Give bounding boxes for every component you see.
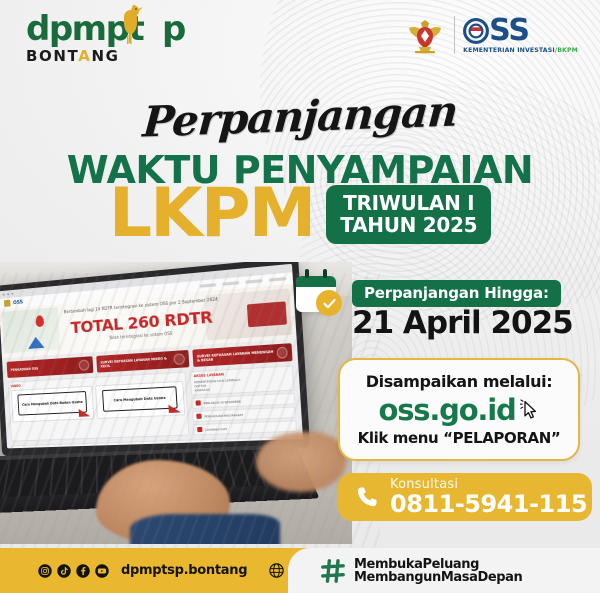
quick-card-label: SURVEI KEPUASAN LAYANAN MIKRO & KECIL [100, 355, 174, 368]
ministry-name: KEMENTERIAN INVESTASI [463, 47, 555, 54]
site-menu-item [245, 279, 262, 284]
quick-card-label: PENGADUAN OSS [10, 366, 38, 372]
site-brand: OSS [4, 299, 23, 307]
heron-icon [118, 3, 144, 47]
facebook-icon[interactable] [76, 564, 90, 578]
channel-hint: Klik menu “PELAPORAN” [358, 429, 561, 447]
second-hand [256, 432, 346, 492]
poster-canvas: dpmptsp BONTANG [0, 0, 600, 593]
oss-brand-ss: SS [489, 17, 529, 45]
video-card[interactable]: Cara Mengubah Data Usaha [95, 381, 184, 419]
submission-channel-box: Disampaikan melalui: oss.go.id Klik menu… [338, 358, 580, 461]
subtitle-gold-a: A [78, 47, 91, 65]
side-button-label: LAYANAN CHAT [205, 426, 227, 431]
ministry-bkpm: /BKPM [555, 47, 578, 54]
phone-icon [354, 484, 380, 510]
social-icon-row: dpmptsp.bontang [38, 563, 247, 578]
badge-line-1: TRIWULAN I [340, 192, 477, 214]
badge-line-2: TAHUN 2025 [340, 214, 477, 236]
quick-card-label: SURVEI KEPUASAN LAYANAN MENENGAH & BESAR [197, 349, 278, 362]
globe-icon [269, 563, 284, 578]
browser-dot [3, 294, 5, 296]
oss-logo-group: SS KEMENTERIAN INVESTASI/BKPM [404, 14, 578, 56]
channel-label: Disampaikan melalui: [366, 372, 552, 391]
video-thumbnail: Cara Mengubah Data Badan Usaha [17, 391, 87, 416]
video-card[interactable]: Cara Mengubah Data Badan Usaha [11, 386, 95, 423]
channel-url-row: oss.go.id [378, 393, 539, 427]
garuda-pancasila-emblem [404, 14, 446, 56]
mouse-cursor-icon [520, 399, 540, 421]
deadline-label: Perpanjangan Hingga: [352, 280, 561, 307]
oss-brand-block: SS KEMENTERIAN INVESTASI/BKPM [463, 17, 578, 54]
poster-footer: dpmptsp.bontang pd.bontangkota.go.id Mem… [0, 548, 600, 593]
video-title: Cara Mengubah Data Badan Usaha [22, 400, 83, 407]
hashtag-icon [320, 558, 346, 584]
side-button-label: PENGADUAN MASYARAKAT [204, 412, 243, 418]
oss-o-mark-icon [463, 18, 489, 44]
dpmptsp-logo: dpmptsp BONTANG [26, 12, 185, 65]
youtube-icon[interactable] [95, 564, 109, 578]
service-access-box: AKSES LAYANAN KEMENTERIAN DAN LEMBAGA DA… [189, 365, 294, 395]
site-menu-item [222, 281, 239, 286]
video-thumbnail: Cara Mengubah Data Usaha [102, 386, 177, 412]
play-icon [168, 404, 181, 413]
consultation-number: 0811-5941-115 [390, 492, 587, 516]
shirt-sleeve [130, 514, 280, 544]
cursor-arrow-icon [520, 399, 540, 421]
dpmptsp-word-suffix: p [162, 9, 185, 49]
calendar-ring [305, 269, 309, 278]
oss-brand-text: SS [463, 17, 529, 45]
site-brand-text: OSS [13, 299, 23, 306]
social-handle: dpmptsp.bontang [121, 563, 247, 578]
dpmptsp-subtitle: BONTANG [26, 47, 185, 65]
subtitle-before: BONT [26, 47, 78, 65]
quarter-year-badge: TRIWULAN I TAHUN 2025 [326, 185, 491, 244]
side-panel: AKSES LAYANAN KEMENTERIAN DAN LEMBAGA DA… [189, 365, 297, 435]
check-icon [322, 296, 337, 311]
calendar-top [296, 276, 336, 287]
consultation-box[interactable]: Konsultasi 0811-5941-115 [338, 473, 592, 521]
instagram-icon[interactable] [38, 564, 52, 578]
site-menu-item [269, 277, 287, 282]
video-panel: VIDEO Cara Mengubah Data Badan Usaha Car… [8, 372, 189, 442]
laptop-device: OSS Bertambah lagi 14 RDTR terin [0, 262, 310, 456]
hashtag-line-1: MembukaPeluang [354, 558, 522, 571]
side-button-label: BERLOKASI DI KEK/KPBPB [203, 399, 240, 405]
video-title: Cara Mengubah Data Usaha [114, 396, 166, 403]
browser-dot [7, 293, 9, 295]
chat-icon [197, 427, 202, 432]
check-badge [316, 290, 342, 316]
calendar-ring [323, 269, 327, 278]
site-garuda-icon [4, 300, 11, 307]
headline-lkpm: LKPM [109, 180, 315, 248]
consultation-text: Konsultasi 0811-5941-115 [390, 478, 587, 516]
hashtag-line-2: MembangunMasaDepan [354, 571, 522, 584]
poster-header: dpmptsp BONTANG [0, 0, 600, 76]
side-button[interactable]: LAYANAN CHAT [193, 420, 297, 435]
subtitle-after: NG [91, 47, 119, 65]
quick-card-icon [79, 359, 90, 370]
headline-lkpm-row: LKPM TRIWULAN I TAHUN 2025 [0, 180, 600, 248]
browser-dot [12, 293, 14, 295]
calendar-check-icon [296, 272, 340, 316]
quick-card-icon [174, 353, 185, 365]
quick-card-icon [277, 347, 288, 359]
dpmptsp-wordmark: dpmptsp [26, 12, 185, 46]
site-menu-item [200, 283, 217, 288]
megaphone-icon [196, 414, 201, 419]
channel-url[interactable]: oss.go.id [378, 393, 515, 427]
tiktok-icon[interactable] [57, 564, 71, 578]
video-list: Cara Mengubah Data Badan Usaha Cara Meng… [11, 381, 185, 423]
laptop-screen: OSS Bertambah lagi 14 RDTR terin [0, 264, 303, 449]
hashtag-panel: MembukaPeluang MembangunMasaDepan [288, 548, 600, 593]
deadline-date: 21 April 2025 [352, 305, 573, 341]
play-icon [79, 408, 91, 416]
logo-divider [454, 16, 455, 54]
hashtag-text: MembukaPeluang MembangunMasaDepan [354, 558, 522, 584]
location-icon [195, 400, 200, 405]
headline-script: Perpanjangan [0, 81, 600, 151]
oss-ministry-line: KEMENTERIAN INVESTASI/BKPM [463, 47, 578, 54]
